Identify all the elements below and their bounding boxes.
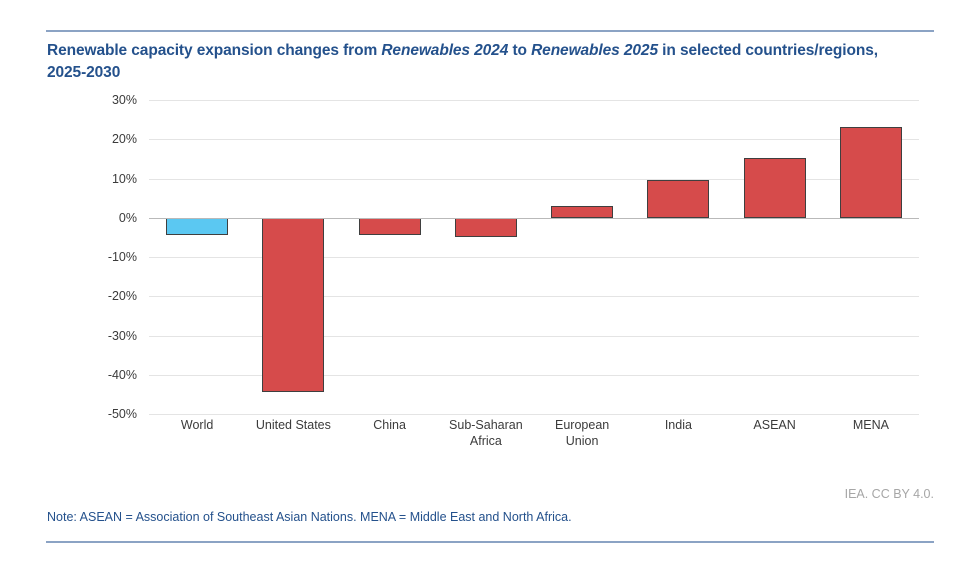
y-tick-label: -40%	[108, 368, 137, 382]
y-tick-label: 10%	[112, 172, 137, 186]
x-tick-label: European Union	[534, 418, 630, 449]
top-divider	[46, 30, 934, 32]
x-tick-label: United States	[245, 418, 341, 449]
y-axis-ticks: 30%20%10%0%-10%-20%-30%-40%-50%	[85, 100, 143, 414]
x-tick-label: World	[149, 418, 245, 449]
bar[interactable]	[359, 218, 421, 235]
chart-figure: Renewable capacity expansion changes fro…	[0, 0, 972, 570]
bar-slot	[727, 100, 823, 414]
bar[interactable]	[166, 218, 228, 236]
y-tick-label: -30%	[108, 329, 137, 343]
bar-slot	[245, 100, 341, 414]
footnote: Note: ASEAN = Association of Southeast A…	[47, 509, 917, 525]
bar[interactable]	[455, 218, 517, 238]
title-emphasis-2: Renewables 2025	[531, 42, 658, 59]
bar-slot	[438, 100, 534, 414]
title-emphasis-1: Renewables 2024	[381, 42, 508, 59]
y-tick-label: -20%	[108, 289, 137, 303]
bar[interactable]	[744, 158, 806, 218]
bar-slot	[534, 100, 630, 414]
x-axis-labels: WorldUnited StatesChinaSub-Saharan Afric…	[149, 418, 919, 449]
x-tick-label: MENA	[823, 418, 919, 449]
bar-slot	[149, 100, 245, 414]
gridline	[149, 414, 919, 415]
bar[interactable]	[647, 180, 709, 217]
credit-text: IEA. CC BY 4.0.	[845, 487, 934, 501]
y-tick-label: -50%	[108, 407, 137, 421]
bottom-divider	[46, 541, 934, 543]
bar[interactable]	[840, 127, 902, 217]
x-tick-label: Sub-Saharan Africa	[438, 418, 534, 449]
x-tick-label: India	[630, 418, 726, 449]
title-text-1: Renewable capacity expansion changes fro…	[47, 42, 381, 59]
bar[interactable]	[551, 206, 613, 218]
plot-canvas	[149, 100, 919, 414]
x-tick-label: ASEAN	[727, 418, 823, 449]
y-tick-label: 30%	[112, 93, 137, 107]
y-tick-label: 0%	[119, 211, 137, 225]
bar-slot	[342, 100, 438, 414]
bar-slot	[630, 100, 726, 414]
chart-title: Renewable capacity expansion changes fro…	[47, 40, 917, 84]
bar-slot	[823, 100, 919, 414]
chart-plot-area: Forecsat revisions 30%20%10%0%-10%-20%-3…	[47, 100, 927, 470]
y-tick-label: 20%	[112, 132, 137, 146]
title-text-2: to	[508, 42, 531, 59]
x-tick-label: China	[342, 418, 438, 449]
zero-axis-line	[149, 218, 919, 219]
bar[interactable]	[262, 218, 324, 393]
y-tick-label: -10%	[108, 250, 137, 264]
bar-series	[149, 100, 919, 414]
